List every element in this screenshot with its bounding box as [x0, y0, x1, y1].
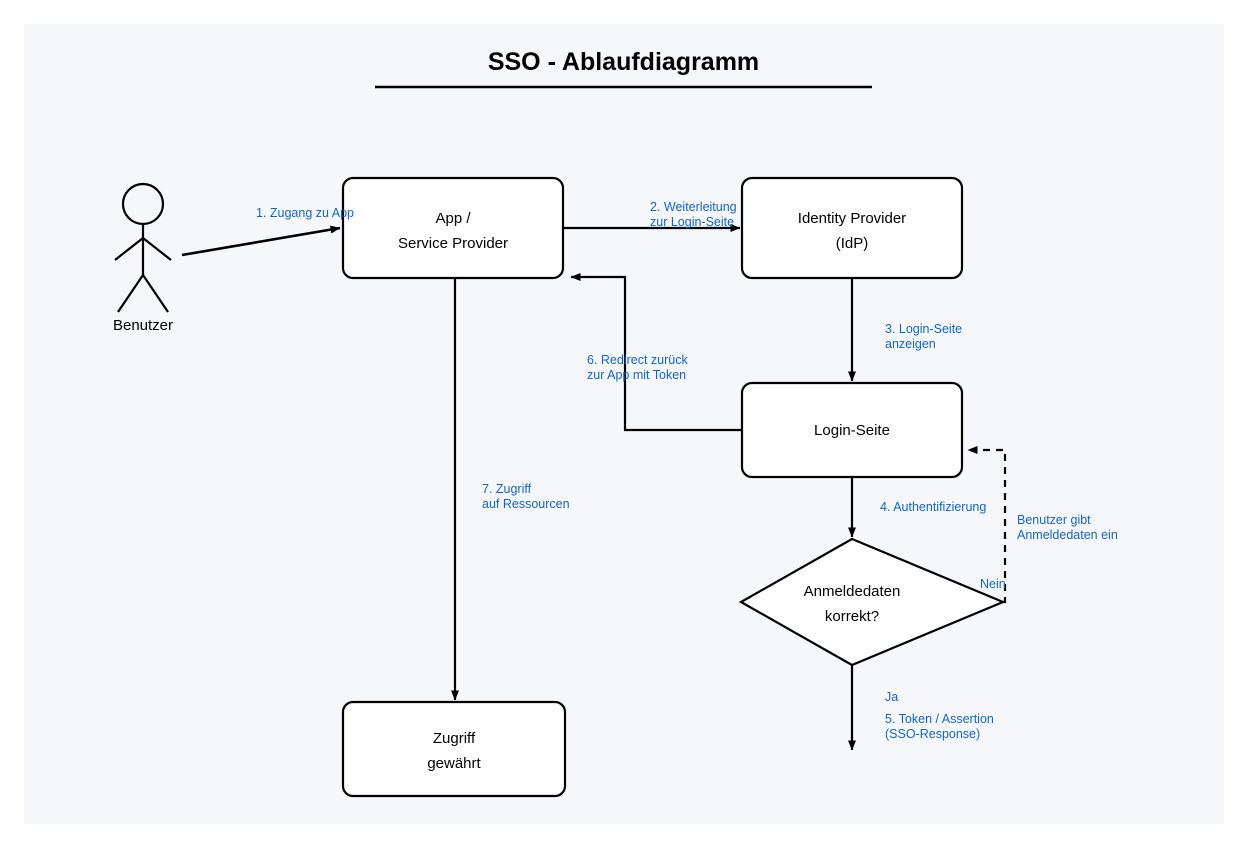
diagram-title: SSO - Ablaufdiagramm: [375, 48, 872, 77]
node-decision-label-line1: Anmeldedaten: [742, 579, 962, 604]
edge-label-step1: 1. Zugang zu App: [256, 206, 354, 221]
edge-label-step4: 4. Authentifizierung: [880, 500, 986, 515]
edge-label-step5-yes: Ja: [885, 690, 898, 705]
edge-label-step5-line1: 5. Token / Assertion: [885, 712, 994, 727]
edge-label-step5-line2: (SSO-Response): [885, 727, 980, 742]
node-login-label: Login-Seite: [742, 418, 962, 443]
edge-label-step2-line2: zur Login-Seite: [650, 215, 734, 230]
edge-label-no: Nein: [980, 577, 1006, 592]
diagram-vector-layer: [0, 0, 1248, 848]
edge-label-step6-line2: zur App mit Token: [587, 368, 686, 383]
node-decision-label-line2: korrekt?: [742, 604, 962, 629]
actor-label: Benutzer: [93, 317, 193, 334]
edge-label-step2-line1: 2. Weiterleitung: [650, 200, 737, 215]
edge-label-retry-line1: Benutzer gibt: [1017, 513, 1091, 528]
edge-label-step6-line1: 6. Redirect zurück: [587, 353, 688, 368]
edge-label-step7-line1: 7. Zugriff: [482, 482, 531, 497]
edge-label-step7-line2: auf Ressourcen: [482, 497, 570, 512]
node-granted-label-line2: gewährt: [343, 751, 565, 776]
node-idp-label-line1: Identity Provider: [742, 206, 962, 231]
node-granted-label-line1: Zugriff: [343, 726, 565, 751]
node-app-label-line2: Service Provider: [343, 231, 563, 256]
node-idp-label-line2: (IdP): [742, 231, 962, 256]
edge-user-to-app: [182, 228, 340, 255]
sso-flow-diagram: SSO - Ablaufdiagramm Benutzer App / Serv…: [0, 0, 1248, 848]
edge-label-step3-line1: 3. Login-Seite: [885, 322, 962, 337]
node-app-label-line1: App /: [343, 206, 563, 231]
actor-stick-figure: [115, 184, 171, 312]
diagram-page: SSO - Ablaufdiagramm Benutzer App / Serv…: [0, 0, 1248, 848]
edge-label-retry-line2: Anmeldedaten ein: [1017, 528, 1118, 543]
edge-label-step3-line2: anzeigen: [885, 337, 936, 352]
